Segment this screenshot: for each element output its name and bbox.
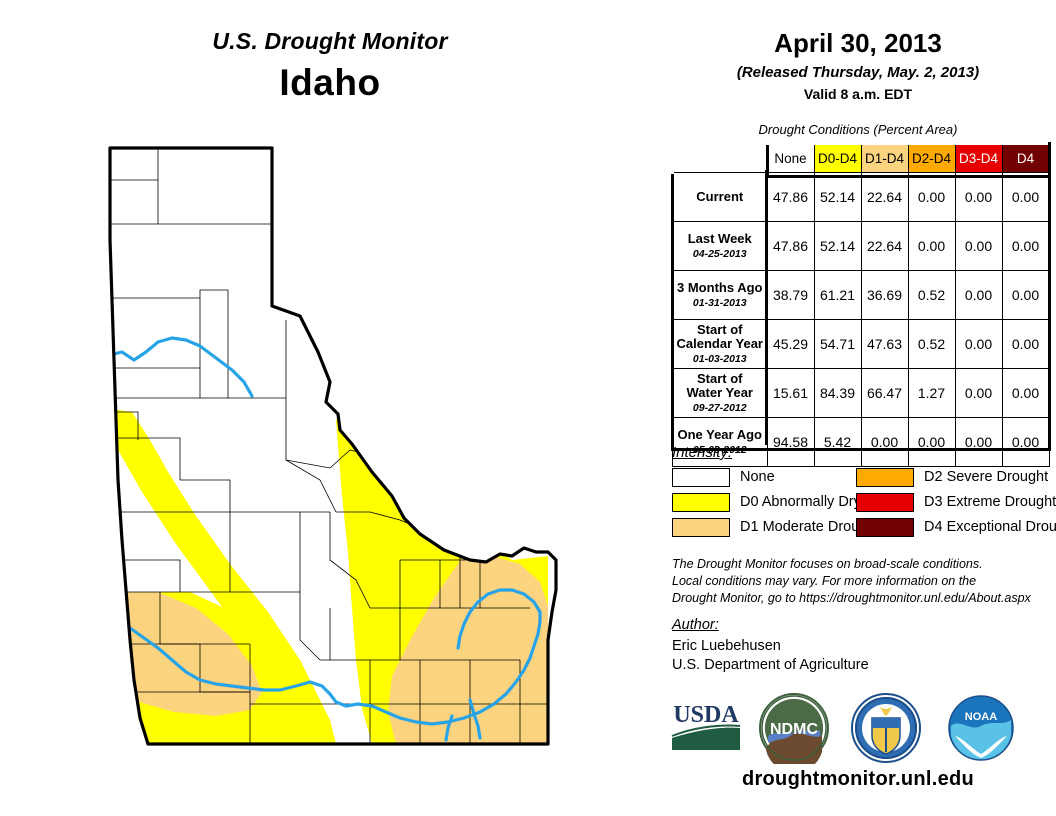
table-col-header-none: None: [767, 144, 814, 173]
legend-swatch-d0: [672, 493, 730, 512]
row-label-last-week: Last Week04-25-2013: [673, 222, 768, 271]
table-col-header-d4: D4: [1002, 144, 1049, 173]
table-cell: 47.63: [861, 320, 908, 369]
drought-fill-layer: [0, 120, 660, 810]
info-panel: April 30, 2013 (Released Thursday, May. …: [660, 0, 1056, 816]
table-cell: 1.27: [908, 369, 955, 418]
row-date: 09-27-2012: [676, 402, 764, 414]
table-cell: 0.00: [955, 320, 1002, 369]
table-cell: 36.69: [861, 271, 908, 320]
row-label-start-of-water-year: Start ofWater Year09-27-2012: [673, 369, 768, 418]
author-heading: Author:: [672, 617, 719, 633]
table-cell: 0.00: [1002, 320, 1049, 369]
usda-logo: USDA: [668, 698, 744, 754]
table-cell: 0.00: [955, 173, 1002, 222]
row-label-3-months-ago: 3 Months Ago01-31-2013: [673, 271, 768, 320]
usdc-seal-logo: [850, 692, 922, 764]
svg-text:NOAA: NOAA: [965, 711, 997, 723]
legend-swatch-none: [672, 468, 730, 487]
table-cell: 0.00: [1002, 173, 1049, 222]
table-cell: 0.00: [955, 222, 1002, 271]
table-cell: 94.58: [767, 418, 814, 467]
table-row: Last Week04-25-201347.8652.1422.640.000.…: [673, 222, 1050, 271]
table-cell: 0.00: [908, 222, 955, 271]
noaa-logo: NOAA: [945, 692, 1017, 764]
site-url[interactable]: droughtmonitor.unl.edu: [660, 768, 1056, 791]
table-cell: 5.42: [814, 418, 861, 467]
table-cell: 0.00: [1002, 222, 1049, 271]
legend-label-none: None: [740, 469, 775, 485]
legend-swatch-d1: [672, 518, 730, 537]
table-cell: 52.14: [814, 173, 861, 222]
table-cell: 0.52: [908, 320, 955, 369]
table-cell: 0.00: [955, 369, 1002, 418]
table-cell: 0.52: [908, 271, 955, 320]
svg-text:USDA: USDA: [673, 702, 739, 728]
svg-text:NDMC: NDMC: [770, 721, 818, 738]
row-date: 04-25-2013: [676, 248, 764, 260]
table-cell: 52.14: [814, 222, 861, 271]
table-cell: 47.86: [767, 222, 814, 271]
table-col-header-d0-d4: D0-D4: [814, 144, 861, 173]
table-cell: 22.64: [861, 173, 908, 222]
author-organization: U.S. Department of Agriculture: [672, 657, 869, 673]
table-body: Current47.8652.1422.640.000.000.00Last W…: [673, 173, 1050, 467]
author-name: Eric Luebehusen: [672, 638, 781, 654]
table-row: 3 Months Ago01-31-201338.7961.2136.690.5…: [673, 271, 1050, 320]
intensity-heading: Intensity:: [672, 444, 732, 461]
table-row: Start ofWater Year09-27-201215.6184.3966…: [673, 369, 1050, 418]
table-cell: 45.29: [767, 320, 814, 369]
table-caption: Drought Conditions (Percent Area): [660, 122, 1056, 137]
report-valid-time: Valid 8 a.m. EDT: [660, 86, 1056, 102]
table-cell: 61.21: [814, 271, 861, 320]
map-panel: U.S. Drought Monitor Idaho: [0, 0, 660, 816]
table-header-row: NoneD0-D4D1-D4D2-D4D3-D4D4: [673, 144, 1050, 173]
row-date: 01-03-2013: [676, 353, 764, 365]
logo-row: USDA NDMC: [660, 690, 1056, 770]
legend-label-d2: D2 Severe Drought: [924, 469, 1048, 485]
row-label-start-of-calendar-year: Start ofCalendar Year01-03-2013: [673, 320, 768, 369]
table-head: NoneD0-D4D1-D4D2-D4D3-D4D4: [673, 144, 1050, 173]
table-cell: 0.00: [955, 418, 1002, 467]
row-label-current: Current: [673, 173, 768, 222]
table-cell: 0.00: [1002, 369, 1049, 418]
table-cell: 0.00: [955, 271, 1002, 320]
table-cell: 22.64: [861, 222, 908, 271]
legend-label-d4: D4 Exceptional Drought: [924, 519, 1056, 535]
table-cell: 15.61: [767, 369, 814, 418]
table-corner-cell: [673, 144, 768, 173]
table-cell: 47.86: [767, 173, 814, 222]
table-col-header-d3-d4: D3-D4: [955, 144, 1002, 173]
report-date: April 30, 2013: [660, 28, 1056, 59]
table-row: Start ofCalendar Year01-03-201345.2954.7…: [673, 320, 1050, 369]
map-title-drought-monitor: U.S. Drought Monitor: [0, 28, 660, 55]
drought-conditions-table: NoneD0-D4D1-D4D2-D4D3-D4D4 Current47.865…: [672, 143, 1050, 467]
table-cell: 0.00: [1002, 418, 1049, 467]
map-title-state: Idaho: [0, 62, 660, 104]
table-cell: 0.00: [861, 418, 908, 467]
table-cell: 66.47: [861, 369, 908, 418]
ndmc-logo: NDMC: [758, 692, 830, 764]
table-cell: 84.39: [814, 369, 861, 418]
legend-label-d0: D0 Abnormally Dry: [740, 494, 861, 510]
legend-label-d3: D3 Extreme Drought: [924, 494, 1056, 510]
legend-swatch-d2: [856, 468, 914, 487]
report-released-date: (Released Thursday, May. 2, 2013): [660, 64, 1056, 81]
table-cell: 0.00: [908, 173, 955, 222]
legend-swatch-d3: [856, 493, 914, 512]
table-col-header-d1-d4: D1-D4: [861, 144, 908, 173]
table-row: Current47.8652.1422.640.000.000.00: [673, 173, 1050, 222]
table-col-header-d2-d4: D2-D4: [908, 144, 955, 173]
legend-swatch-d4: [856, 518, 914, 537]
table-cell: 38.79: [767, 271, 814, 320]
idaho-drought-map[interactable]: [0, 120, 660, 810]
disclaimer-text: The Drought Monitor focuses on broad-sca…: [672, 556, 1052, 607]
table-cell: 0.00: [1002, 271, 1049, 320]
row-date: 01-31-2013: [676, 297, 764, 309]
table-cell: 0.00: [908, 418, 955, 467]
table-cell: 54.71: [814, 320, 861, 369]
